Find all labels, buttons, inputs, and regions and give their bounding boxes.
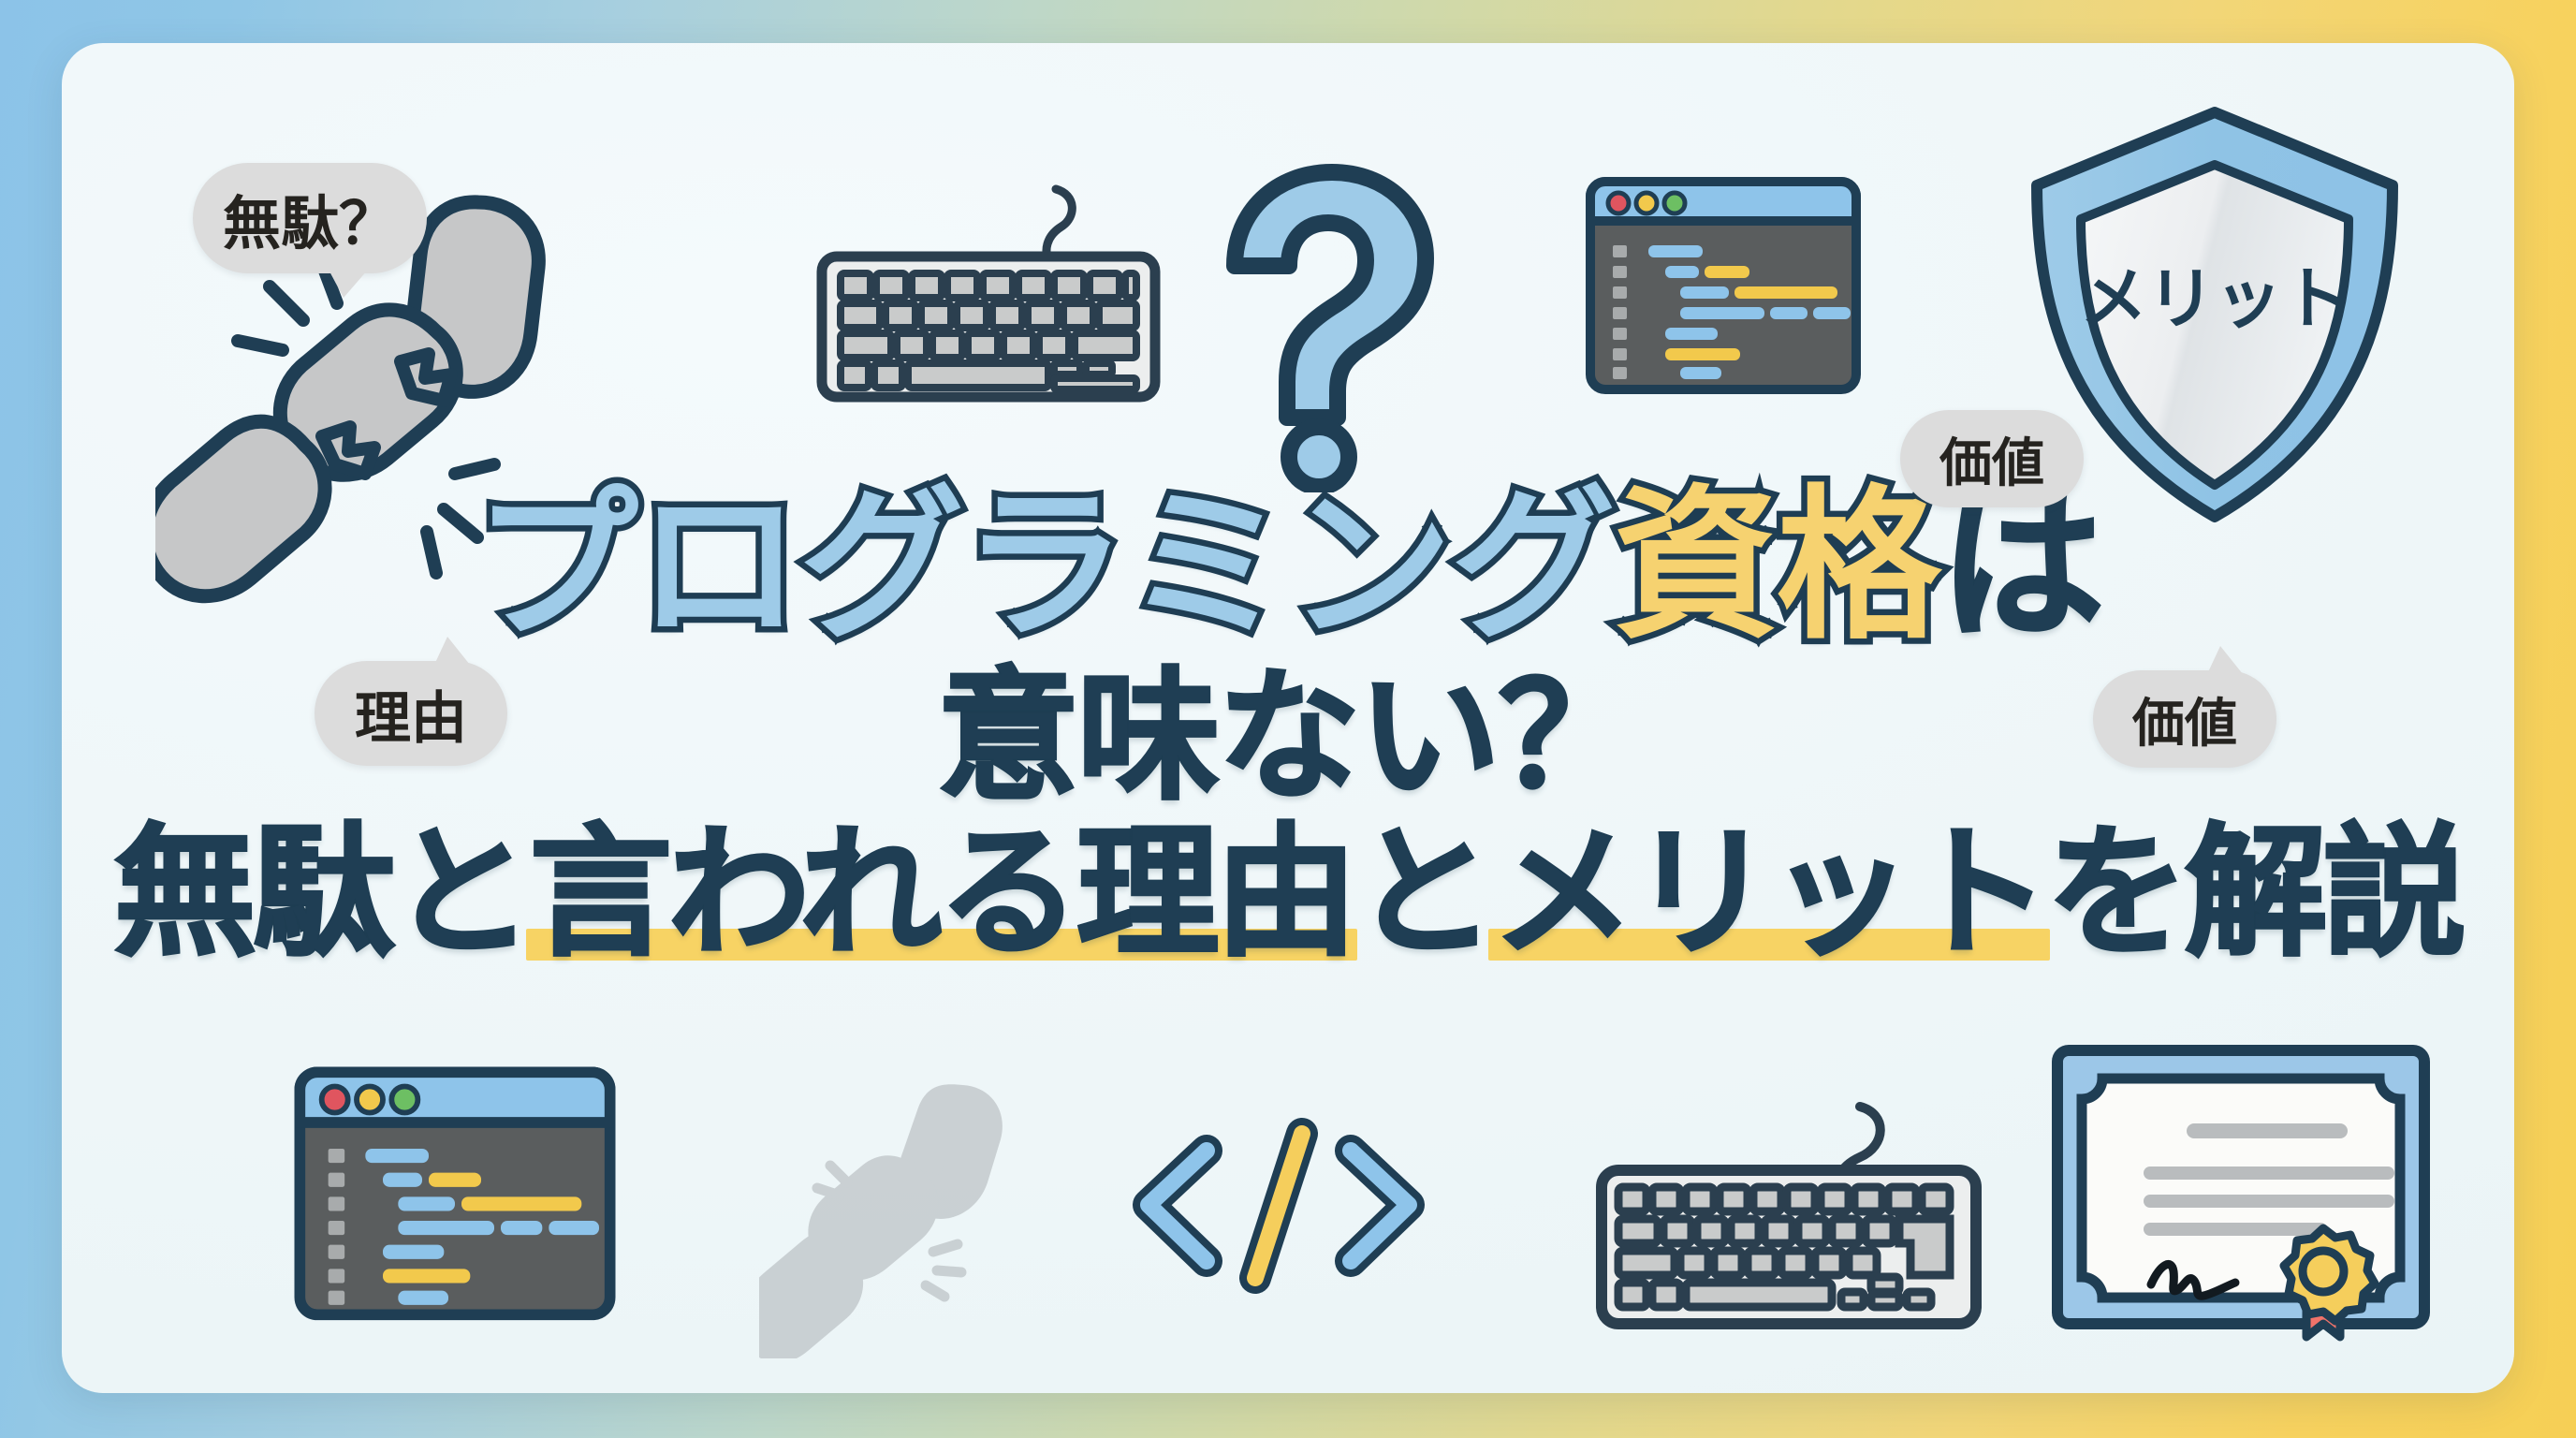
badge-muda: 無駄？ [193,163,427,273]
keyboard-icon [1583,1092,1995,1354]
title-seg-to: と [1354,821,1492,966]
code-window-icon [286,1064,623,1326]
code-brackets-icon [1115,1106,1442,1302]
badge-kachi-bottom: 価値 [2093,670,2276,768]
title-line-1: プログラミング資格は [62,483,2514,652]
thumbnail-canvas: メリット [0,0,2576,1438]
badge-label: 価値 [2132,682,2237,757]
title-seg-merit: メリット [1492,821,2046,966]
certificate-icon [2044,1034,2437,1343]
title-seg-iwareru-riyuu: 言われる理由 [530,821,1354,966]
badge-label: 無駄？ [223,176,397,260]
content-card: メリット [62,43,2514,1393]
broken-chain-icon [759,1068,1031,1358]
title-seg-muda-to: 無駄と [114,821,530,966]
title-seg-shikaku: 資格 [1614,483,1939,652]
bubble-tail-icon [329,270,368,298]
title-seg-wo-kaisetsu: を解説 [2046,821,2462,966]
title-seg-programming: プログラミング [474,483,1614,652]
badge-riyuu: 理由 [315,661,507,766]
title-seg-wa: は [1939,483,2102,652]
badge-kachi-top: 価値 [1900,410,2084,507]
badge-label: 価値 [1939,421,2044,497]
bubble-tail-icon [2207,646,2243,674]
code-window-icon [1583,174,1864,399]
bubble-tail-icon [434,637,470,665]
badge-label: 理由 [355,673,467,755]
question-mark-icon [1199,155,1442,492]
title-seg-imi-nai: 意味ない？ [937,665,1639,810]
shield-label: メリット [2080,262,2349,337]
keyboard-icon [801,183,1176,418]
title-line-3: 無駄と言われる理由とメリットを解説 [62,821,2514,966]
